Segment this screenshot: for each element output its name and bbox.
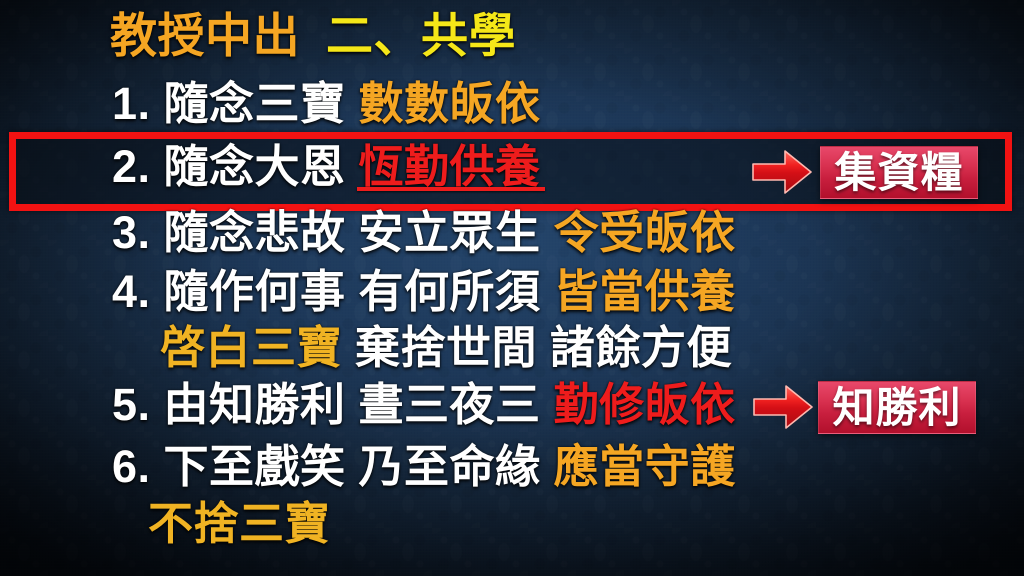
slide-title: 教授中出二、共學	[110, 8, 516, 64]
list-item-6: 6.下至戲笑乃至命緣應當守護	[112, 441, 736, 493]
list-item-6-text-accent: 應當守護	[554, 441, 736, 492]
list-item-3: 3.隨念悲故安立眾生令受皈依	[112, 207, 736, 259]
list-item-4: 4.隨作何事有何所須皆當供養	[112, 266, 736, 318]
list-item-3-text-white-1: 隨念悲故	[164, 207, 346, 258]
list-item-5-text-accent: 勤修皈依	[554, 379, 736, 430]
list-item-2-text-white: 隨念大恩	[164, 141, 346, 192]
list-item-1-number: 1.	[112, 78, 151, 129]
list-item-2-number: 2.	[112, 141, 151, 192]
slide-canvas: 教授中出二、共學 1.隨念三寶數數皈依 2.隨念大恩恆勤供養	[0, 0, 1024, 576]
list-item-5-text-white-2: 晝三夜三	[359, 379, 541, 430]
list-item-4b-text-white-2: 諸餘方便	[550, 322, 732, 373]
list-item-1-text-accent: 數數皈依	[359, 78, 541, 129]
tag-box-2-label: 知勝利	[832, 386, 961, 430]
title-left-text: 教授中出	[110, 9, 300, 62]
right-arrow-icon-2	[752, 383, 814, 431]
list-item-3-number: 3.	[112, 207, 151, 258]
list-item-1-text-white: 隨念三寶	[164, 78, 346, 129]
list-item-2: 2.隨念大恩恆勤供養	[112, 141, 541, 193]
list-item-6-continuation: 不捨三寶	[148, 498, 330, 550]
list-item-6-number: 6.	[112, 441, 151, 492]
list-item-6b-text-accent: 不捨三寶	[148, 498, 330, 549]
list-item-1: 1.隨念三寶數數皈依	[112, 78, 541, 130]
list-item-6-text-white-1: 下至戲笑	[164, 441, 346, 492]
list-item-4-text-white-1: 隨作何事	[164, 266, 346, 317]
tag-box-1: 集資糧	[820, 146, 978, 199]
list-item-5: 5.由知勝利晝三夜三勤修皈依	[112, 379, 736, 431]
list-item-5-text-white-1: 由知勝利	[164, 379, 346, 430]
list-item-4b-text-accent: 啓白三寶	[160, 322, 342, 373]
list-item-3-text-white-2: 安立眾生	[359, 207, 541, 258]
list-item-6-text-white-2: 乃至命緣	[359, 441, 541, 492]
list-item-3-text-accent: 令受皈依	[554, 207, 736, 258]
right-arrow-icon-1	[751, 148, 813, 196]
slide-content: 教授中出二、共學 1.隨念三寶數數皈依 2.隨念大恩恆勤供養	[0, 0, 1024, 576]
list-item-4-text-accent: 皆當供養	[554, 266, 736, 317]
list-item-4-number: 4.	[112, 266, 151, 317]
list-item-4-text-white-2: 有何所須	[359, 266, 541, 317]
list-item-4-continuation: 啓白三寶棄捨世間諸餘方便	[160, 322, 732, 374]
list-item-5-number: 5.	[112, 379, 151, 430]
title-right-text: 二、共學	[326, 9, 516, 62]
tag-box-2: 知勝利	[818, 381, 976, 434]
list-item-4b-text-white-1: 棄捨世間	[355, 322, 537, 373]
tag-box-1-label: 集資糧	[834, 151, 963, 195]
list-item-2-text-accent: 恆勤供養	[359, 141, 541, 192]
